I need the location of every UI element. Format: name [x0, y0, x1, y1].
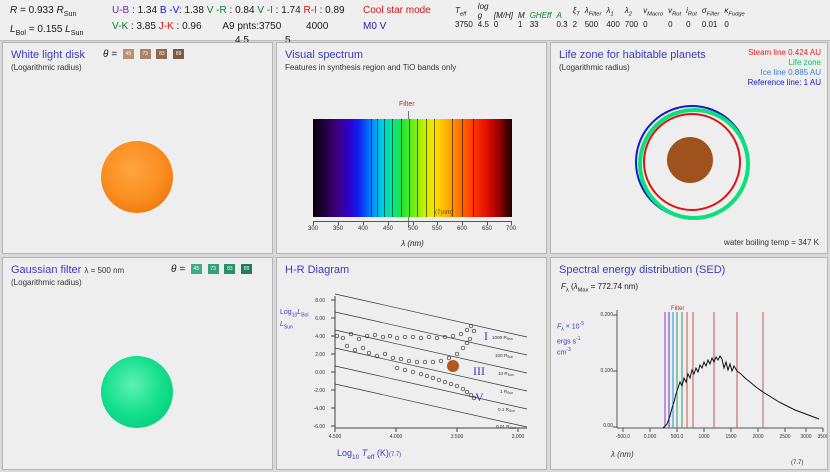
ci-jk-name: J-K — [159, 21, 174, 32]
radius-row: R = 0.933 RSun — [10, 3, 84, 22]
absorption-line — [434, 119, 435, 217]
color-indices: U-B : 1.34 B -V: 1.38 V -R : 0.84 V -I :… — [112, 3, 345, 35]
ci-vk-name: V-K — [112, 21, 128, 32]
grid-teff1: 3750 — [259, 21, 281, 32]
spectrum-tick-label: 300 — [308, 226, 318, 232]
spectrum-tick-label: 400 — [358, 226, 368, 232]
ci-vr-value: 0.84 — [235, 5, 254, 16]
spectrum-tick-label: 700 — [506, 226, 516, 232]
param-value-vmacro[interactable]: 0 — [643, 20, 668, 30]
param-value-sigmafilter[interactable]: 0.01 — [702, 20, 725, 30]
radius-label: 0.1 RSun — [498, 407, 515, 413]
absorption-line — [401, 119, 402, 217]
legend-reference-line: Reference line: 1 AU — [748, 78, 821, 88]
gaussian-filter-title: Gaussian filter λ = 500 nm — [11, 264, 124, 276]
radius-label: 100 RSun — [495, 353, 513, 359]
cool-star-mode-label: Cool star mode — [363, 3, 431, 19]
param-name-irot: iRot — [686, 2, 702, 20]
star-properties: R = 0.933 RSun LBol = 0.155 LSun — [10, 3, 84, 41]
white-light-disk-subtitle: (Logarithmic radius) — [11, 63, 82, 72]
ci-vi-name: V -I — [257, 5, 273, 16]
radius-label: 0.01 RSun — [496, 424, 516, 430]
spectrum-strip — [313, 119, 512, 217]
param-name-sigmafilter: σFilter — [702, 2, 725, 20]
param-name-vrot: vRot — [668, 2, 686, 20]
param-name-lambda2: λ2 — [625, 2, 643, 20]
panel-gaussian-filter[interactable]: Gaussian filter λ = 500 nm (Logarithmic … — [2, 257, 273, 470]
param-name-vmacro: vMacro — [643, 2, 668, 20]
grid-teff2: 4000 — [306, 21, 328, 32]
spectrum-tick-label: 500 — [408, 226, 418, 232]
white-light-disk-title: White light disk — [11, 49, 85, 61]
absorption-line — [426, 119, 427, 217]
param-value-albedo[interactable]: 0.3 — [556, 20, 572, 30]
ci-bv-value: 1.38 — [184, 5, 203, 16]
spectrum-tick-label: 600 — [457, 226, 467, 232]
absorption-line — [462, 119, 463, 217]
ci-bv-name: B -V — [160, 5, 179, 16]
theta-swatch[interactable]: 83 — [224, 264, 235, 274]
param-value-lambdafilter[interactable]: 500 — [585, 20, 607, 30]
sed-plot: (7.7) — [551, 258, 828, 470]
param-value-gheff[interactable]: 33 — [530, 20, 557, 30]
parameter-names-row: Teff logg [M/H] M GHEff A ξT λFilter λ1 … — [455, 2, 750, 20]
panel-life-zone[interactable]: Life zone for habitable planets (Logarit… — [550, 42, 828, 254]
gaussian-theta-block: θ = 45 73 83 89 — [171, 264, 252, 275]
ci-vk-value: 3.85 — [136, 21, 155, 32]
spectral-type-label: M0 V — [363, 19, 431, 35]
app-root: R = 0.933 RSun LBol = 0.155 LSun U-B : 1… — [0, 0, 830, 472]
current-star-marker — [447, 360, 459, 372]
spectrum-tick-label: 650 — [482, 226, 492, 232]
param-name-mass: M — [518, 2, 530, 20]
ci-ub-value: 1.34 — [138, 5, 157, 16]
spectrum-gradient — [313, 119, 512, 217]
ci-ri-value: 0.89 — [325, 5, 344, 16]
theta-swatch[interactable]: 45 — [123, 49, 134, 59]
star-disk-white-light — [101, 141, 173, 213]
spectrum-nm-label: (7)nm) — [435, 210, 453, 216]
param-value-vrot[interactable]: 0 — [668, 20, 686, 30]
parameter-values-row: 3750 4.5 0 1 33 0.3 2 500 400 700 0 0 0 … — [455, 20, 750, 30]
absorption-line — [392, 119, 393, 217]
param-name-lambda1: λ1 — [606, 2, 624, 20]
theta-swatch[interactable]: 45 — [191, 264, 202, 274]
radius-label: 1 RSun — [500, 389, 513, 395]
luminosity-value: 0.155 — [37, 24, 62, 35]
panel-white-light-disk[interactable]: White light disk (Logarithmic radius) θ … — [2, 42, 273, 254]
gaussian-filter-title-text: Gaussian filter — [11, 264, 81, 276]
header-bar: R = 0.933 RSun LBol = 0.155 LSun U-B : 1… — [0, 0, 830, 41]
gaussian-theta-label: θ = — [171, 264, 185, 275]
theta-swatch[interactable]: 89 — [241, 264, 252, 274]
radius-value: 0.933 — [29, 5, 54, 16]
radius-label: 10 RSun — [498, 371, 514, 377]
spectrum-filter-label: Filter — [399, 101, 415, 108]
absorption-line — [452, 119, 453, 217]
theta-swatch[interactable]: 73 — [140, 49, 151, 59]
grid-label: A9 pnts: — [222, 21, 259, 32]
star-disk-gaussian — [101, 356, 173, 428]
parameter-table-grid: Teff logg [M/H] M GHEff A ξT λFilter λ1 … — [455, 2, 750, 30]
lum-class-III: III — [473, 364, 485, 378]
ci-vi-value: 1.74 — [281, 5, 300, 16]
panel-sed[interactable]: Spectral energy distribution (SED) Fλ (λ… — [550, 257, 828, 470]
luminosity-row: LBol = 0.155 LSun — [10, 22, 84, 41]
param-value-teff[interactable]: 3750 — [455, 20, 478, 30]
life-zone-legend: Steam line 0.424 AU Life zone Ice line 0… — [748, 48, 821, 88]
gaussian-filter-wavelength: λ = 500 nm — [84, 266, 124, 275]
legend-steam-line: Steam line 0.424 AU — [748, 48, 821, 58]
life-zone-subtitle: (Logarithmic radius) — [559, 63, 630, 72]
legend-life-zone: Life zone — [748, 58, 821, 68]
param-value-mass[interactable]: 1 — [518, 20, 530, 30]
param-value-xit[interactable]: 2 — [573, 20, 585, 30]
param-name-kfudge: κFudge — [724, 2, 749, 20]
ci-jk-value: 0.96 — [182, 21, 201, 32]
ci-vr-name: V -R — [207, 5, 227, 16]
spectrum-axis-label: λ (nm) — [313, 239, 512, 248]
param-value-irot[interactable]: 0 — [686, 20, 702, 30]
panel-hr-diagram[interactable]: H-R Diagram Log10LBolLSun Log10 Teff (K)… — [276, 257, 547, 470]
param-value-mh[interactable]: 0 — [494, 20, 518, 30]
color-index-row-2: V-K : 3.85 J-K : 0.96 A9 pnts:3750 4000 … — [112, 19, 345, 35]
sed-noise-label: (7.7) — [791, 460, 803, 466]
water-boiling-temp: water boiling temp = 347 K — [724, 238, 819, 247]
panel-grid: White light disk (Logarithmic radius) θ … — [0, 41, 830, 472]
absorption-line — [371, 119, 372, 217]
theta-swatch[interactable]: 89 — [173, 49, 184, 59]
spectrum-tick-label: 350 — [333, 226, 343, 232]
param-name-gheff: GHEff — [530, 2, 557, 20]
gaussian-filter-subtitle: (Logarithmic radius) — [11, 278, 82, 287]
absorption-line — [409, 119, 410, 217]
absorption-line — [473, 119, 474, 217]
param-value-lambda2[interactable]: 700 — [625, 20, 643, 30]
color-index-row-1: U-B : 1.34 B -V: 1.38 V -R : 0.84 V -I :… — [112, 3, 345, 19]
radius-label: 1000 RSun — [492, 335, 513, 341]
spectrum-tick-label: 550 — [432, 226, 442, 232]
hr-diagram-plot: I III V 1000 RSun 100 RSun 10 RSun 1 RSu… — [277, 258, 547, 470]
ci-ub-name: U-B — [112, 5, 129, 16]
param-name-xit: ξT — [573, 2, 585, 20]
param-name-lambdafilter: λFilter — [585, 2, 607, 20]
absorption-line — [417, 119, 418, 217]
white-light-theta-block: θ = 45 73 83 89 — [103, 49, 184, 60]
param-value-logg[interactable]: 4.5 — [478, 20, 494, 30]
absorption-line — [377, 119, 378, 217]
param-name-logg: logg — [478, 2, 494, 20]
visual-spectrum-subtitle: Features in synthesis region and TiO ban… — [285, 63, 456, 72]
param-name-teff: Teff — [455, 2, 478, 20]
param-value-lambda1[interactable]: 400 — [606, 20, 624, 30]
lum-class-I: I — [484, 329, 488, 343]
white-light-theta-label: θ = — [103, 49, 117, 60]
spectrum-tick-label: 450 — [383, 226, 393, 232]
life-zone-title: Life zone for habitable planets — [559, 49, 706, 61]
param-name-albedo: A — [556, 2, 572, 20]
visual-spectrum-title: Visual spectrum — [285, 49, 363, 61]
theta-swatch[interactable]: 83 — [156, 49, 167, 59]
mode-block: Cool star mode M0 V — [363, 3, 431, 35]
param-name-mh: [M/H] — [494, 2, 518, 20]
ci-ri-name: R-I — [303, 5, 316, 16]
legend-ice-line: Ice line 0.885 AU — [748, 68, 821, 78]
theta-swatch[interactable]: 73 — [208, 264, 219, 274]
absorption-line — [384, 119, 385, 217]
panel-visual-spectrum[interactable]: Visual spectrum Features in synthesis re… — [276, 42, 547, 254]
lum-class-V: V — [475, 390, 484, 404]
parameter-table: Teff logg [M/H] M GHEff A ξT λFilter λ1 … — [455, 2, 750, 30]
param-value-kfudge[interactable]: 0 — [724, 20, 749, 30]
life-zone-star-core — [667, 137, 713, 183]
